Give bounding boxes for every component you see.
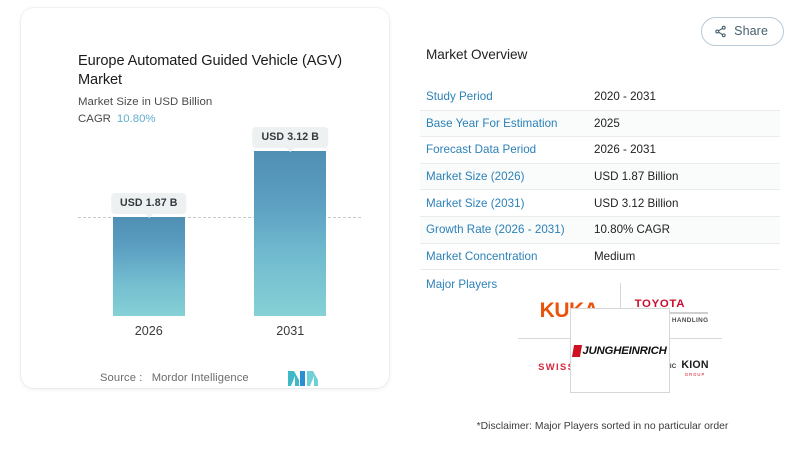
overview-row: Growth Rate (2026 - 2031)10.80% CAGR	[420, 217, 780, 244]
overview-row-value: 2020 - 2031	[594, 90, 656, 103]
overview-row: Forecast Data Period2026 - 2031	[420, 137, 780, 164]
overview-row-key: Market Size (2026)	[426, 170, 594, 183]
source-attribution: Source : Mordor Intelligence	[100, 372, 249, 384]
jungheinrich-mark-icon	[572, 345, 582, 357]
market-overview-panel: Market Overview Study Period2020 - 2031B…	[420, 0, 785, 459]
overview-row-value: USD 3.12 Billion	[594, 197, 678, 210]
overview-row: Study Period2020 - 2031	[420, 84, 780, 111]
overview-table: Study Period2020 - 2031Base Year For Est…	[420, 84, 780, 298]
overview-title: Market Overview	[426, 47, 527, 62]
chart-x-tick: 2031	[276, 324, 304, 338]
kion-subtitle: GROUP	[681, 372, 708, 377]
chart-bar[interactable]	[113, 217, 185, 316]
share-button[interactable]: Share	[701, 17, 784, 46]
chart-x-tick: 2026	[135, 324, 163, 338]
player-logo-jungheinrich: JUNGHEINRICH	[570, 308, 670, 393]
overview-row: Market ConcentrationMedium	[420, 244, 780, 271]
chart-bar-label: USD 1.87 B	[111, 193, 187, 214]
overview-row-value: 10.80% CAGR	[594, 223, 670, 236]
overview-row-key: Forecast Data Period	[426, 143, 594, 156]
share-label: Share	[734, 25, 768, 38]
major-players-logo-grid: KUKA TOYOTA MATERIAL HANDLING SWISSLOG D…	[518, 283, 722, 393]
overview-row: Base Year For Estimation2025	[420, 111, 780, 138]
cagr-value: 10.80%	[117, 113, 156, 125]
overview-row-value: USD 1.87 Billion	[594, 170, 678, 183]
chart-subtitle: Market Size in USD Billion	[78, 96, 212, 108]
chart-card: Europe Automated Guided Vehicle (AGV) Ma…	[21, 8, 389, 388]
chart-title: Europe Automated Guided Vehicle (AGV) Ma…	[78, 52, 346, 90]
overview-row: Market Size (2026)USD 1.87 Billion	[420, 164, 780, 191]
overview-row: Market Size (2031)USD 3.12 Billion	[420, 190, 780, 217]
cagr-label: CAGR	[78, 113, 111, 125]
jungheinrich-wordmark: JUNGHEINRICH	[582, 345, 666, 357]
chart-bar-label: USD 3.12 B	[252, 127, 328, 148]
overview-row-value: 2025	[594, 117, 620, 130]
bar-chart-plot: USD 1.87 B2026USD 3.12 B2031	[78, 136, 361, 341]
overview-row-value: Medium	[594, 250, 635, 263]
overview-row-key: Growth Rate (2026 - 2031)	[426, 223, 594, 236]
overview-row-key: Market Size (2031)	[426, 197, 594, 210]
report-snapshot-card: Share Europe Automated Guided Vehicle (A…	[0, 0, 800, 459]
overview-row-key: Base Year For Estimation	[426, 117, 594, 130]
disclaimer-text: *Disclaimer: Major Players sorted in no …	[420, 421, 785, 432]
source-label: Source :	[100, 372, 142, 384]
overview-row-key: Study Period	[426, 90, 594, 103]
share-icon	[714, 25, 727, 38]
source-name: Mordor Intelligence	[152, 372, 249, 384]
chart-bar[interactable]	[254, 151, 326, 316]
mordor-intelligence-logo	[287, 369, 321, 387]
cagr-row: CAGR 10.80%	[78, 113, 156, 125]
overview-row-key: Market Concentration	[426, 250, 594, 263]
kion-wordmark: KION	[681, 359, 708, 371]
overview-row-value: 2026 - 2031	[594, 143, 656, 156]
